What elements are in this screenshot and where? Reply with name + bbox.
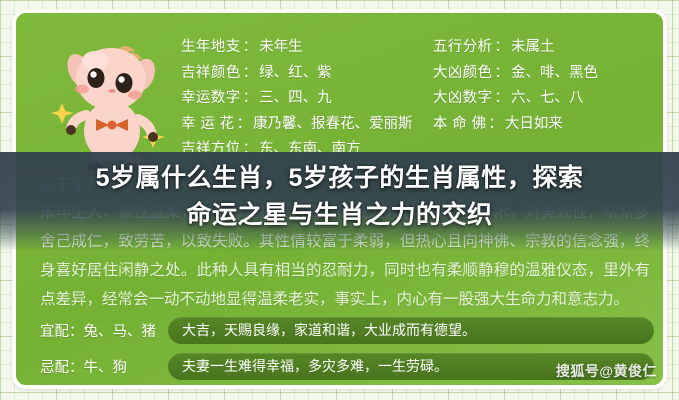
attribute-value: 未年生 [259,35,303,61]
attribute-row: 生年地支 ： 未年生 [181,35,433,61]
attribute-row: 吉祥颜色 ： 绿、红、紫 [181,61,433,87]
attribute-value: 大日如来 [505,112,563,138]
attribute-separator: ： [492,61,511,87]
zodiac-attributes: 生年地支 ： 未年生 吉祥颜色 ： 绿、红、紫 幸运数字 ： 三、四、九 幸 运… [181,35,649,163]
attribute-row: 五行分析 ： 未属土 [433,35,649,61]
attribute-key: 吉祥颜色 [181,61,241,87]
attribute-separator: ： [235,112,254,138]
title-overlay-band [0,152,679,250]
attribute-row: 本 命 佛 ： 大日如来 [433,112,649,138]
attribute-separator: ： [492,86,511,112]
attribute-key: 幸运数字 [181,86,241,112]
attributes-left-column: 生年地支 ： 未年生 吉祥颜色 ： 绿、红、紫 幸运数字 ： 三、四、九 幸 运… [181,35,433,163]
cartoon-goat-icon [52,31,172,171]
attribute-value: 金、啡、黑色 [511,61,598,87]
compatibility-detail-pill: 大吉，天赐良缘，家道和谐，大业成而有德望。 [168,317,654,344]
attribute-key: 本 命 佛 [433,112,487,138]
attribute-separator: ： [241,86,260,112]
watermark: 搜狐号@黄俊仁 [556,361,657,381]
attribute-separator: ： [486,112,505,138]
attribute-key: 五行分析 [433,35,493,61]
attribute-key: 大凶数字 [433,86,493,112]
attribute-key: 生年地支 [181,35,241,61]
attribute-row: 幸 运 花 ： 康乃馨、报春花、爱丽斯 [181,112,433,138]
attribute-key: 幸 运 花 [181,112,235,138]
attribute-value: 三、四、九 [259,86,332,112]
attribute-value: 绿、红、紫 [259,61,332,87]
attribute-row: 大凶数字 ： 六、七、八 [433,86,649,112]
attribute-key: 大凶颜色 [433,61,493,87]
compatibility-row-favorable: 宜配：兔、马、猪 大吉，天赐良缘，家道和谐，大业成而有德望。 [40,315,654,345]
compatibility-label: 宜配：兔、马、猪 [40,320,168,341]
compatibility-label: 忌配：牛、狗 [40,356,168,377]
attribute-row: 大凶颜色 ： 金、啡、黑色 [433,61,649,87]
attribute-value: 未属土 [511,35,555,61]
attribute-value: 康乃馨、报春花、爱丽斯 [253,112,413,138]
attributes-right-column: 五行分析 ： 未属土 大凶颜色 ： 金、啡、黑色 大凶数字 ： 六、七、八 本 … [433,35,649,163]
attribute-separator: ： [241,35,260,61]
attribute-row: 幸运数字 ： 三、四、九 [181,86,433,112]
attribute-separator: ： [492,35,511,61]
attribute-value: 六、七、八 [511,86,584,112]
screenshot-root: 生年地支 ： 未年生 吉祥颜色 ： 绿、红、紫 幸运数字 ： 三、四、九 幸 运… [0,0,679,400]
attribute-separator: ： [241,61,260,87]
